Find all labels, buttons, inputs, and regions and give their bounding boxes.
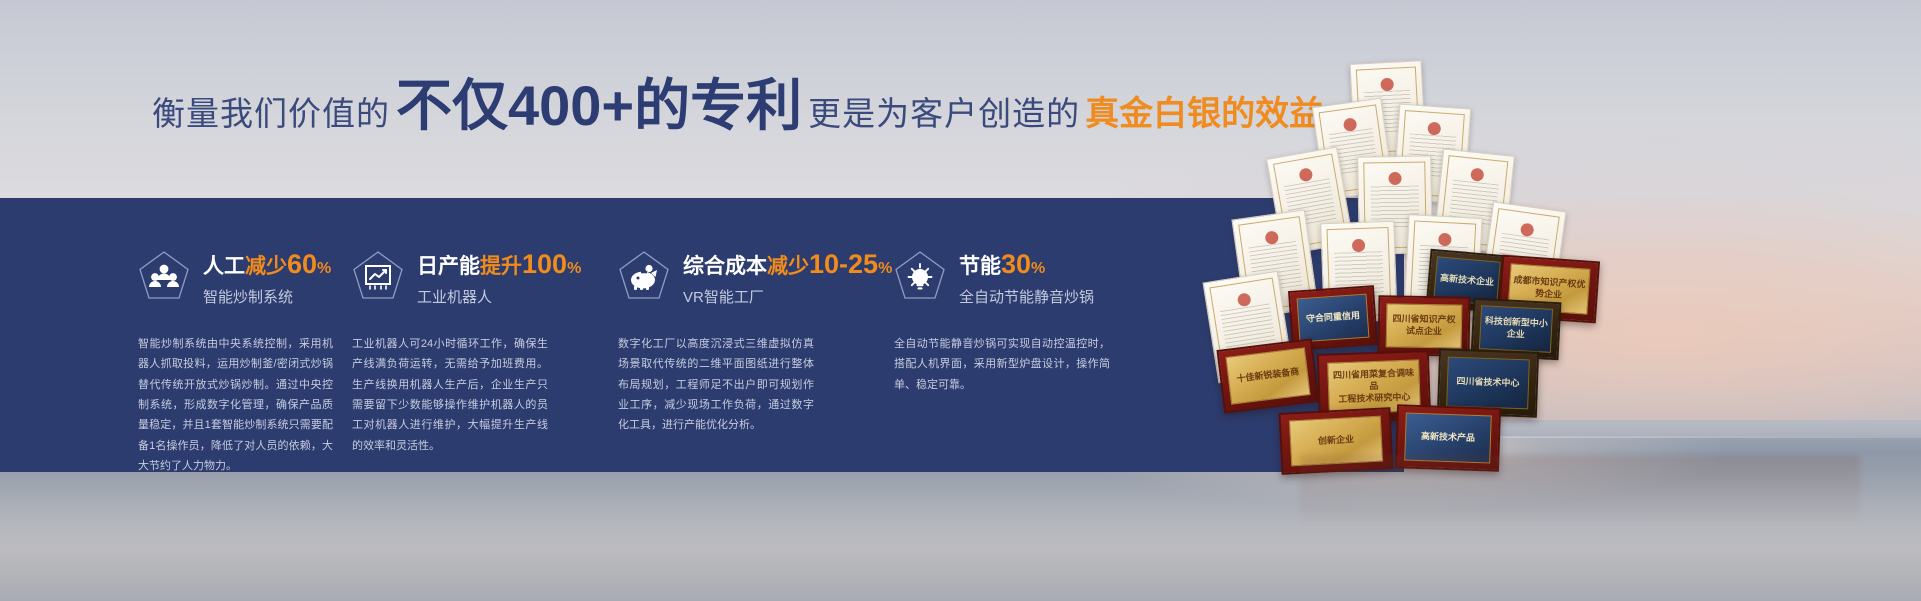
feature-card-cost: 综合成本减少10-25% VR智能工厂 数字化工厂以高度沉浸式三维虚拟仿真场景取…: [598, 198, 866, 472]
certificate-plaque: 十佳新锐装备商: [1216, 338, 1319, 413]
feature-subtitle: VR智能工厂: [683, 286, 892, 307]
headline-mid: 更是为客户创造的: [808, 87, 1080, 135]
feature-body: 智能炒制系统由中央系统控制，采用机器人抓取投料，运用炒制釜/密闭式炒锅替代传统开…: [138, 334, 333, 476]
page-title: 衡量我们价值的 不仅400+的专利 更是为客户创造的 真金白银的效益: [152, 78, 1323, 140]
headline-lead: 衡量我们价值的: [152, 87, 390, 135]
lightbulb-icon: [894, 250, 946, 305]
feature-body: 数字化工厂以高度沉浸式三维虚拟仿真场景取代传统的二维平面图纸进行整体布局规划，工…: [618, 334, 814, 436]
feature-card-capacity: 日产能提升100% 工业机器人 工业机器人可24小时循环工作，确保生产线满负荷运…: [330, 198, 598, 472]
banner-root: 衡量我们价值的 不仅400+的专利 更是为客户创造的 真金白银的效益: [0, 0, 1921, 601]
feature-title: 人工减少60%: [203, 250, 331, 278]
feature-body: 工业机器人可24小时循环工作，确保生产线满负荷运转，无需给予加班费用。生产线换用…: [352, 334, 548, 456]
feature-title: 节能30%: [959, 250, 1094, 278]
feature-title: 日产能提升100%: [417, 250, 581, 278]
feature-panel: 人工减少60% 智能炒制系统 智能炒制系统由中央系统控制，采用机器人抓取投料，运…: [0, 198, 1404, 472]
people-group-icon: [138, 250, 190, 305]
certificate-plaque: 四川省知识产权试点企业: [1377, 295, 1470, 357]
piggy-bank-icon: [618, 250, 670, 305]
certificate-reflection: [1300, 455, 1860, 527]
chart-board-icon: [352, 250, 404, 305]
feature-card-labor: 人工减少60% 智能炒制系统 智能炒制系统由中央系统控制，采用机器人抓取投料，运…: [0, 198, 330, 472]
feature-card-energy: 节能30% 全自动节能静音炒锅 全自动节能静音炒锅可实现自动控温控时，搭配人机界…: [866, 198, 1166, 472]
feature-title: 综合成本减少10-25%: [683, 250, 892, 278]
feature-body: 全自动节能静音炒锅可实现自动控温控时，搭配人机界面，采用新型炉盘设计，操作简单、…: [894, 334, 1110, 395]
feature-subtitle: 全自动节能静音炒锅: [959, 286, 1094, 307]
certificate-wall: 高新技术企业 成都市知识产权优势企业 守合同重信用 四川省知识产权试点企业 科技…: [1210, 44, 1921, 494]
headline-strong: 不仅400+的专利: [396, 78, 802, 134]
feature-subtitle: 智能炒制系统: [203, 286, 331, 307]
feature-subtitle: 工业机器人: [417, 286, 581, 307]
